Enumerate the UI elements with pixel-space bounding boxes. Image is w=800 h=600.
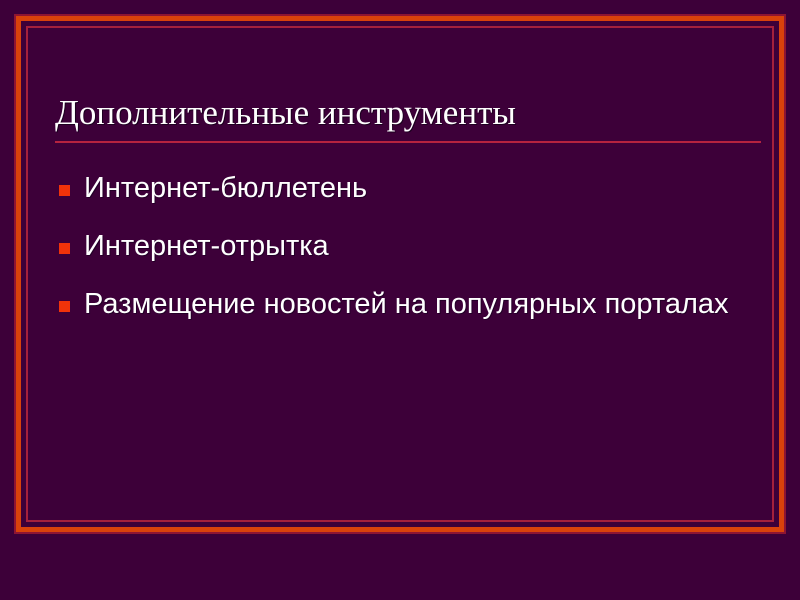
list-item-label: Интернет-отрытка bbox=[84, 224, 755, 269]
square-bullet-icon bbox=[59, 301, 70, 312]
list-item: Интернет-отрытка bbox=[55, 224, 755, 269]
list-item-label: Интернет-бюллетень bbox=[84, 166, 755, 211]
list-item: Размещение новостей на популярных портал… bbox=[55, 282, 755, 327]
list-item: Интернет-бюллетень bbox=[55, 166, 755, 211]
square-bullet-icon bbox=[59, 185, 70, 196]
list-item-label: Размещение новостей на популярных портал… bbox=[84, 282, 755, 327]
slide-bullet-list: Интернет-бюллетень Интернет-отрытка Разм… bbox=[55, 166, 755, 327]
page-title: Дополнительные инструменты bbox=[55, 92, 761, 134]
slide-title-block: Дополнительные инструменты bbox=[55, 92, 761, 143]
square-bullet-icon bbox=[59, 243, 70, 254]
title-divider bbox=[55, 141, 761, 143]
presentation-slide: Дополнительные инструменты Интернет-бюлл… bbox=[0, 0, 800, 600]
